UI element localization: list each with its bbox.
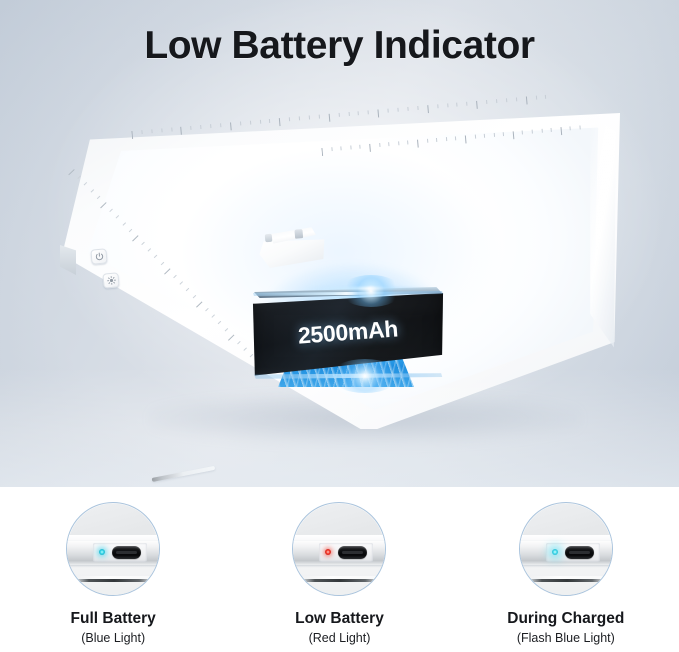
state-subtitle: (Red Light) [309, 630, 371, 646]
state-title: Full Battery [71, 609, 156, 628]
state-title: During Charged [507, 609, 624, 628]
ruler-tick [141, 129, 151, 134]
ruler-tick [151, 128, 161, 133]
ruler-tick [360, 144, 370, 149]
ruler-tick [493, 132, 503, 137]
ruler-tick [545, 94, 551, 98]
ruler-tick [522, 130, 532, 135]
usb-c-port-icon [112, 546, 141, 559]
brightness-button[interactable] [102, 272, 119, 288]
usb-c-port-icon [565, 546, 594, 559]
product-image: 2500mAh [0, 95, 679, 455]
ruler-tick [200, 124, 210, 129]
ruler-tick [535, 95, 545, 100]
ruler-tick [466, 101, 476, 106]
ruler-tick [484, 133, 494, 138]
ruler-tick [230, 122, 241, 131]
ruler-tick [427, 104, 438, 113]
ruler-tick [341, 146, 351, 151]
state-subtitle: (Blue Light) [81, 630, 145, 646]
ruler-tick [289, 116, 299, 121]
ruler-tick [309, 115, 319, 120]
ruler-tick [398, 141, 408, 146]
ruler-tick [436, 137, 446, 142]
ruler-tick [457, 102, 467, 107]
clamp-pin-left [265, 234, 273, 243]
led-indicator-during-charged [552, 549, 558, 555]
ruler-tick [250, 120, 260, 125]
ruler-tick [328, 113, 339, 122]
ruler-tick [350, 145, 360, 150]
ruler-tick [240, 121, 250, 126]
ruler-tick [388, 108, 398, 113]
ruler-tick [407, 140, 417, 145]
ruler-tick [338, 112, 348, 117]
ruler-tick [506, 97, 516, 102]
ruler-tick [131, 130, 142, 139]
ruler-tick [191, 125, 201, 130]
state-subtitle: (Flash Blue Light) [517, 630, 615, 646]
power-icon [94, 252, 104, 262]
wire-stand-leg-icon [152, 466, 216, 482]
ruler-tick [526, 96, 537, 105]
ruler-tick [269, 118, 279, 123]
ruler-tick [417, 105, 427, 110]
ruler-tick [379, 142, 389, 147]
ruler-tick [532, 129, 542, 134]
ruler-tick [455, 135, 465, 140]
ruler-tick [358, 110, 368, 115]
ruler-tick [259, 119, 269, 124]
ruler-tick [220, 122, 230, 127]
indicator-states-section: Full Battery(Blue Light)Low Battery(Red … [0, 487, 679, 652]
indicator-states-row: Full Battery(Blue Light)Low Battery(Red … [0, 487, 679, 652]
ruler-tick [474, 134, 484, 139]
ruler-tick [299, 116, 309, 121]
ruler-tick [407, 106, 417, 111]
ruler-tick [388, 141, 398, 146]
ruler-tick [447, 103, 457, 108]
ruler-tick [476, 100, 487, 109]
usb-c-port-icon [338, 546, 367, 559]
power-button[interactable] [90, 248, 107, 264]
ruler-tick [516, 97, 526, 102]
ruler-tick [348, 111, 358, 116]
ruler-tick [319, 114, 329, 119]
clamp-pin-right [294, 229, 303, 239]
ruler-tick [331, 146, 341, 151]
ruler-tick [368, 109, 378, 114]
ruler-tick [161, 128, 171, 133]
ruler-tick [171, 127, 181, 132]
state-photo-full-battery [66, 502, 160, 596]
ruler-tick [210, 123, 220, 128]
indicator-state-low-battery: Low Battery(Red Light) [226, 487, 452, 652]
indicator-state-during-charged: During Charged(Flash Blue Light) [453, 487, 679, 652]
ruler-tick [570, 125, 580, 130]
state-photo-low-battery [292, 502, 386, 596]
page-title: Low Battery Indicator [0, 18, 679, 74]
state-photo-during-charged [519, 502, 613, 596]
ruler-tick [486, 99, 496, 104]
device-slot-line [77, 579, 151, 582]
ruler-tick [437, 103, 447, 108]
ruler-tick [541, 128, 551, 133]
hero-section: Low Battery Indicator [0, 0, 679, 487]
ruler-tick [496, 98, 506, 103]
ruler-tick [279, 117, 290, 126]
ruler-tick [446, 136, 456, 141]
ruler-tick [181, 126, 192, 135]
ruler-tick [378, 109, 389, 118]
brightness-icon [106, 276, 116, 286]
device-slot-line [530, 579, 604, 582]
ruler-tick [551, 127, 561, 132]
ruler-tick [397, 107, 407, 112]
product-feature-page: Low Battery Indicator [0, 0, 679, 652]
device-slot-line [303, 579, 377, 582]
battery-capacity-graphic: 2500mAh [248, 285, 448, 403]
indicator-state-full-battery: Full Battery(Blue Light) [0, 487, 226, 652]
ruler-tick [503, 131, 513, 136]
ruler-tick [427, 138, 437, 143]
state-title: Low Battery [295, 609, 384, 628]
